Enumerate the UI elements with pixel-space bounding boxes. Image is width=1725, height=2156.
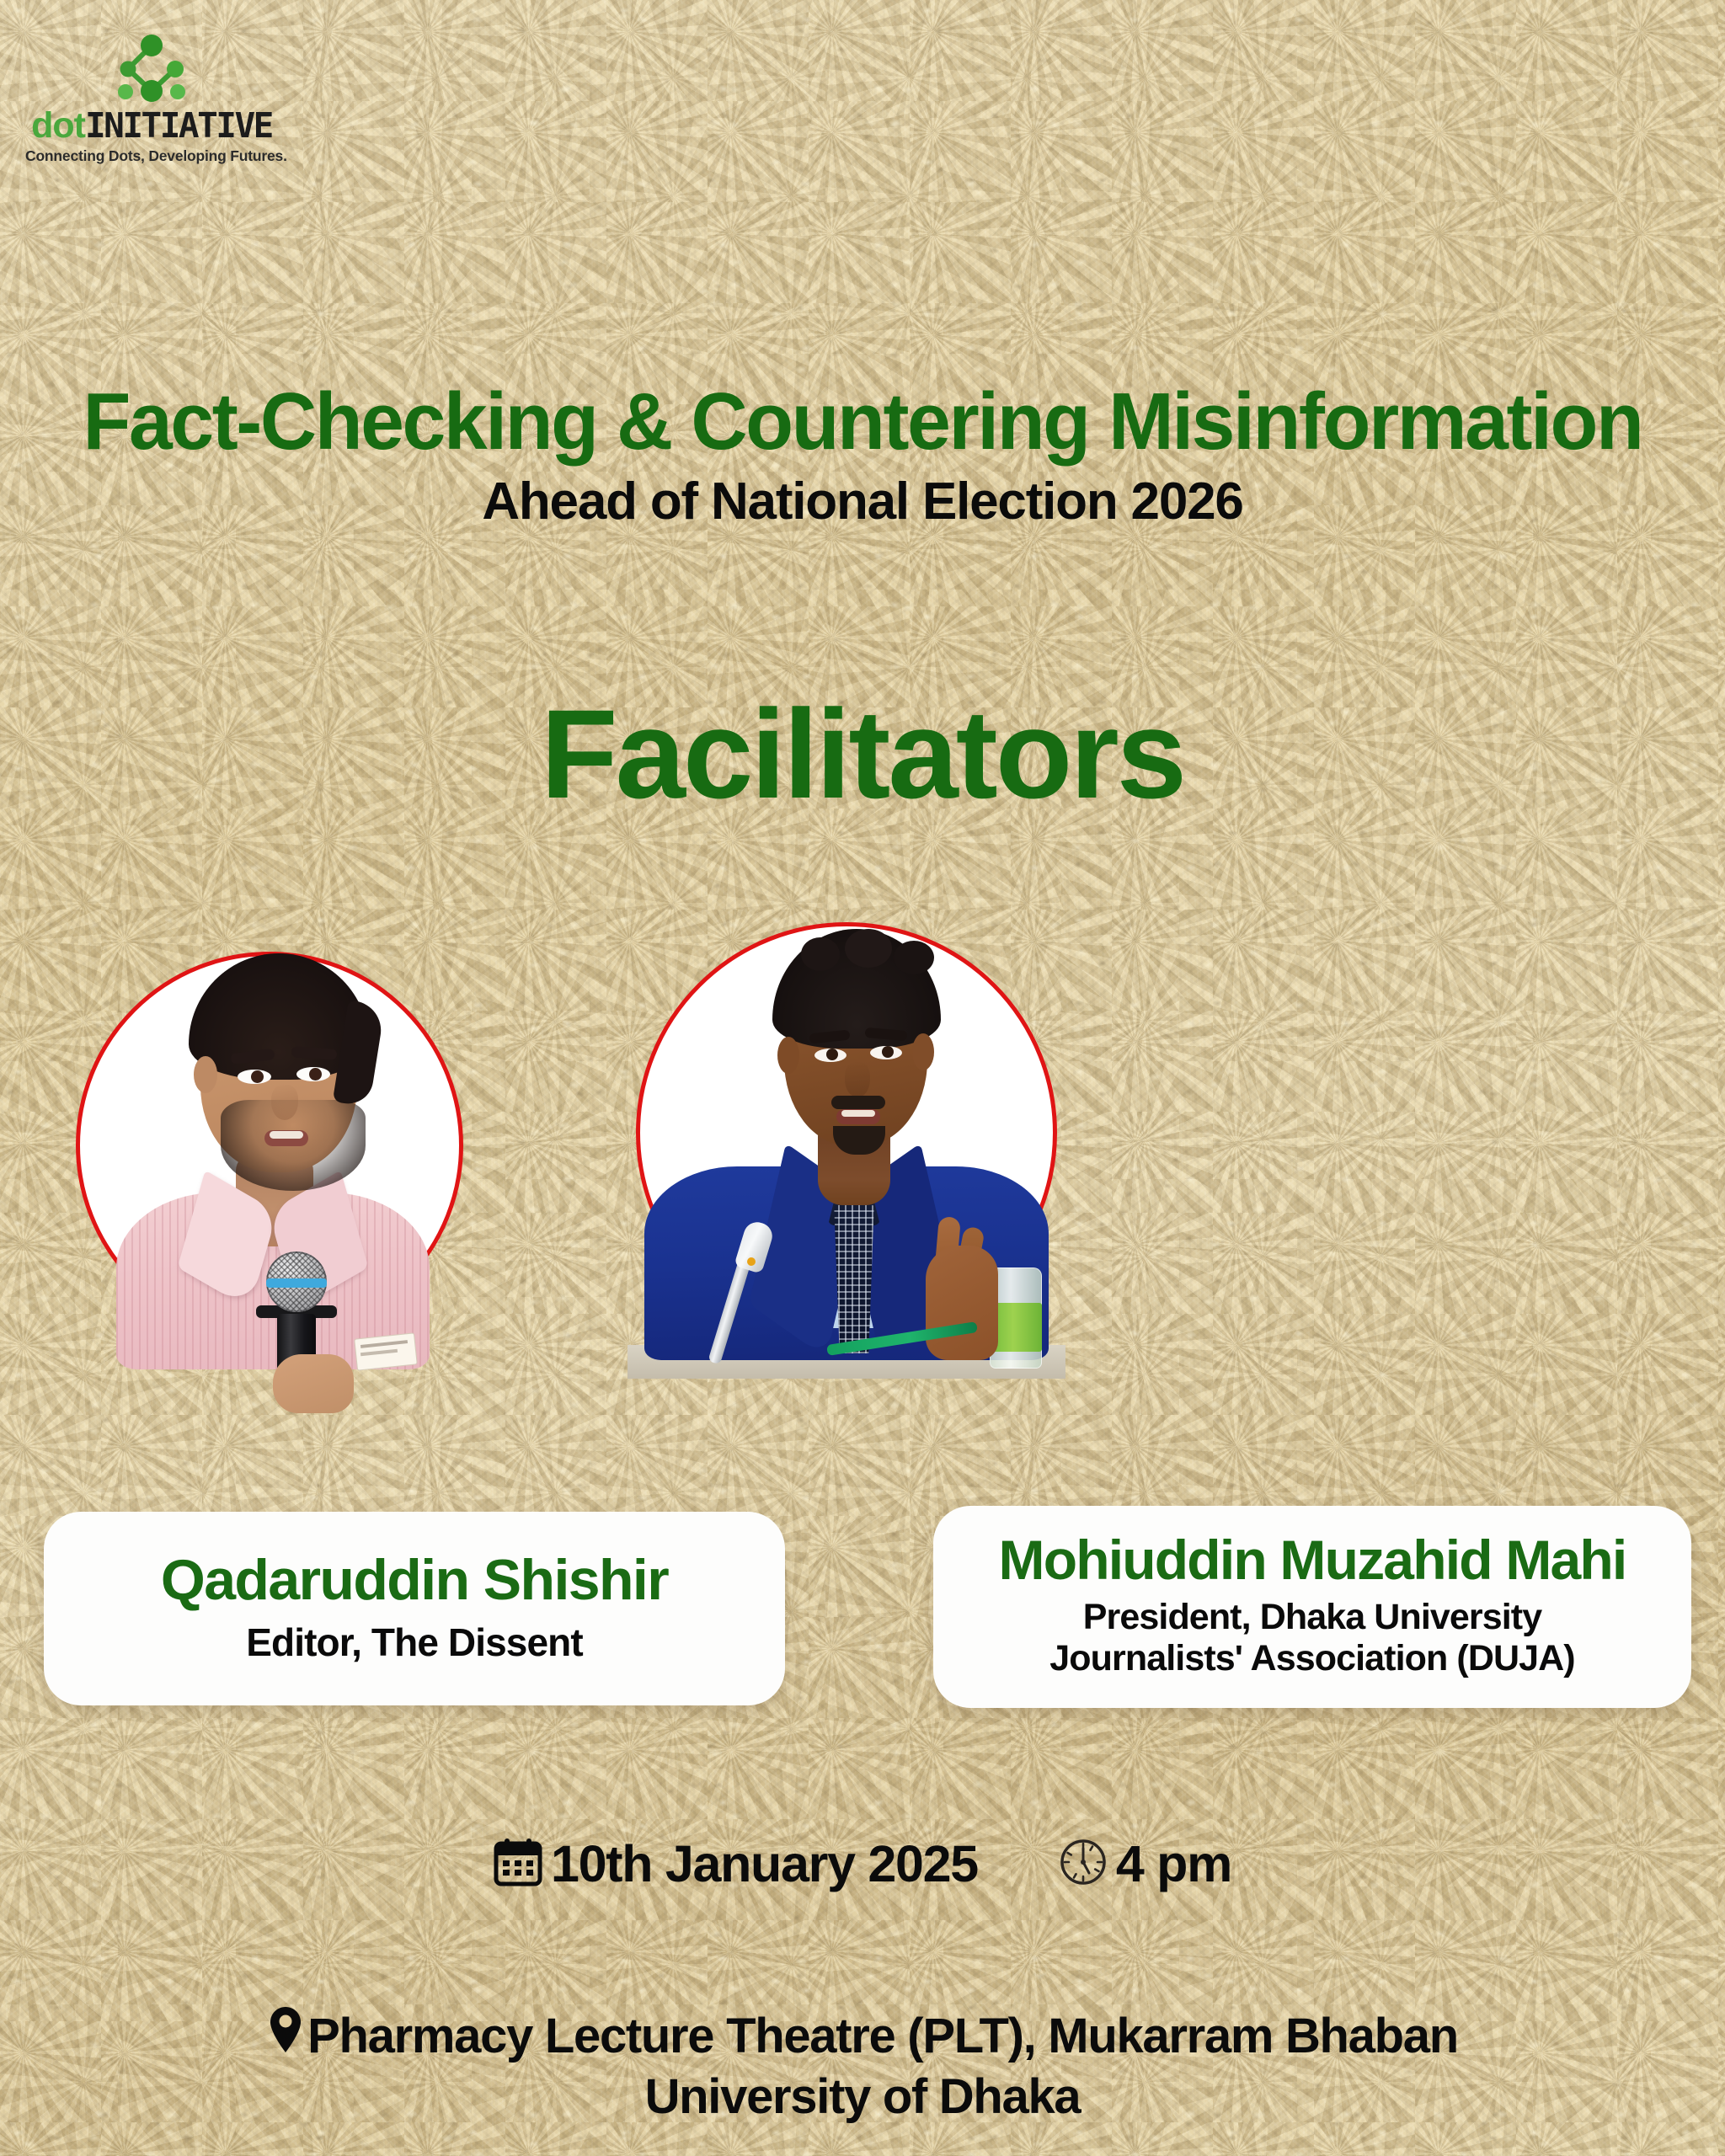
brand-wordmark-initiative: INITIATIVE (85, 105, 272, 146)
brand-wordmark: dotINITIATIVE (25, 108, 278, 144)
event-date-text: 10th January 2025 (551, 1834, 978, 1893)
facilitator-photo-qadaruddin-shishir (76, 952, 463, 1339)
title-block: Fact-Checking & Countering Misinformatio… (0, 381, 1725, 531)
brand-tagline: Connecting Dots, Developing Futures. (25, 147, 278, 165)
page-subtitle: Ahead of National Election 2026 (0, 472, 1725, 531)
portrait-illustration (76, 952, 463, 1339)
facilitator-role-line2: Journalists' Association (DUJA) (1049, 1638, 1574, 1679)
clock-icon (1059, 1838, 1108, 1891)
venue-line-1-text: Pharmacy Lecture Theatre (PLT), Mukarram… (307, 2009, 1458, 2063)
portrait-illustration (636, 922, 1057, 1343)
facilitator-name: Mohiuddin Muzahid Mahi (999, 1531, 1626, 1590)
date-time-row: 10th January 2025 (0, 1834, 1725, 1893)
facilitator-photo-mohiuddin-muzahid-mahi (636, 922, 1057, 1343)
page-title: Fact-Checking & Countering Misinformatio… (26, 381, 1700, 463)
section-heading-facilitators: Facilitators (0, 691, 1725, 817)
location-pin-icon (267, 2004, 304, 2068)
photo-clip (636, 922, 1057, 1343)
photo-clip (76, 952, 463, 1339)
event-time: 4 pm (1059, 1834, 1231, 1893)
venue-line-2: University of Dhaka (0, 2068, 1725, 2127)
facilitator-card-1: Qadaruddin Shishir Editor, The Dissent (44, 1512, 785, 1705)
connected-dots-network-icon (67, 32, 236, 106)
event-time-text: 4 pm (1116, 1834, 1231, 1893)
brand-logo: dotINITIATIVE Connecting Dots, Developin… (25, 32, 278, 165)
brand-wordmark-dot: dot (31, 105, 85, 146)
facilitator-name: Qadaruddin Shishir (161, 1550, 668, 1610)
facilitator-role: President, Dhaka University Journalists'… (1049, 1597, 1574, 1679)
event-date: 10th January 2025 (494, 1834, 978, 1893)
facilitator-role: Editor, The Dissent (246, 1620, 583, 1664)
facilitator-card-2: Mohiuddin Muzahid Mahi President, Dhaka … (933, 1506, 1691, 1708)
calendar-icon (494, 1837, 542, 1892)
venue-block: Pharmacy Lecture Theatre (PLT), Mukarram… (0, 2004, 1725, 2127)
event-poster: dotINITIATIVE Connecting Dots, Developin… (0, 0, 1725, 2156)
venue-line-1: Pharmacy Lecture Theatre (PLT), Mukarram… (0, 2004, 1725, 2068)
facilitator-role-line1: President, Dhaka University (1049, 1597, 1574, 1638)
